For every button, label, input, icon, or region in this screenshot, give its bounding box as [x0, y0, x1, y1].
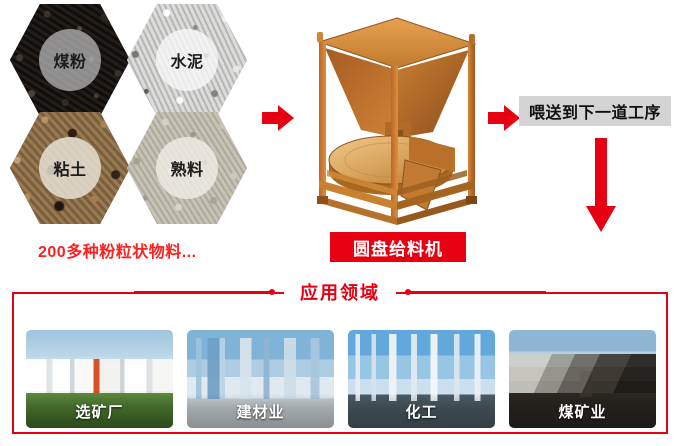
arrow-shaft: [595, 138, 607, 210]
disc-feeder-illustration: [305, 10, 485, 225]
application-card-label-coal-mining: 煤矿业: [509, 394, 656, 428]
right-arrow-icon-machine-to-next: [488, 105, 520, 131]
material-hexagon-clinker[interactable]: 熟料: [127, 112, 247, 224]
materials-hex-cluster: 煤粉 水泥 粘土 熟料: [8, 4, 248, 226]
material-label-clay: 粘土: [39, 137, 101, 199]
material-hexagon-coal-powder[interactable]: 煤粉: [10, 4, 130, 116]
title-rule-right: [406, 291, 546, 293]
infographic-canvas: 煤粉 水泥 粘土 熟料 200多种粉粒状物料...: [0, 0, 680, 446]
material-hexagon-clay[interactable]: 粘土: [10, 112, 130, 224]
application-cards: 选矿厂 建材业 化工 煤矿业: [26, 330, 656, 430]
title-rule-left: [134, 291, 274, 293]
application-card-label-chemical-industry: 化工: [348, 394, 495, 428]
application-title: 应用领域: [284, 279, 396, 305]
right-arrow-icon-materials-to-machine: [262, 105, 294, 131]
application-card-building-materials[interactable]: 建材业: [187, 330, 334, 428]
arrow-head: [586, 206, 616, 232]
down-arrow-icon-to-applications: [586, 138, 616, 232]
application-card-label-building-materials: 建材业: [187, 394, 334, 428]
application-card-ore-dressing-plant[interactable]: 选矿厂: [26, 330, 173, 428]
material-label-cement: 水泥: [156, 29, 218, 91]
application-title-row: 应用领域: [0, 279, 680, 305]
materials-caption: 200多种粉粒状物料...: [38, 238, 197, 262]
arrow-head: [504, 105, 520, 131]
arrow-head: [278, 105, 294, 131]
material-hexagon-cement[interactable]: 水泥: [127, 4, 247, 116]
application-card-chemical-industry[interactable]: 化工: [348, 330, 495, 428]
disc-feeder-svg: [305, 10, 485, 225]
application-card-coal-mining[interactable]: 煤矿业: [509, 330, 656, 428]
application-card-label-ore-dressing-plant: 选矿厂: [26, 394, 173, 428]
machine-name-label: 圆盘给料机: [330, 232, 466, 262]
material-label-coal-powder: 煤粉: [39, 29, 101, 91]
next-process-label: 喂送到下一道工序: [519, 96, 671, 126]
material-label-clinker: 熟料: [156, 137, 218, 199]
